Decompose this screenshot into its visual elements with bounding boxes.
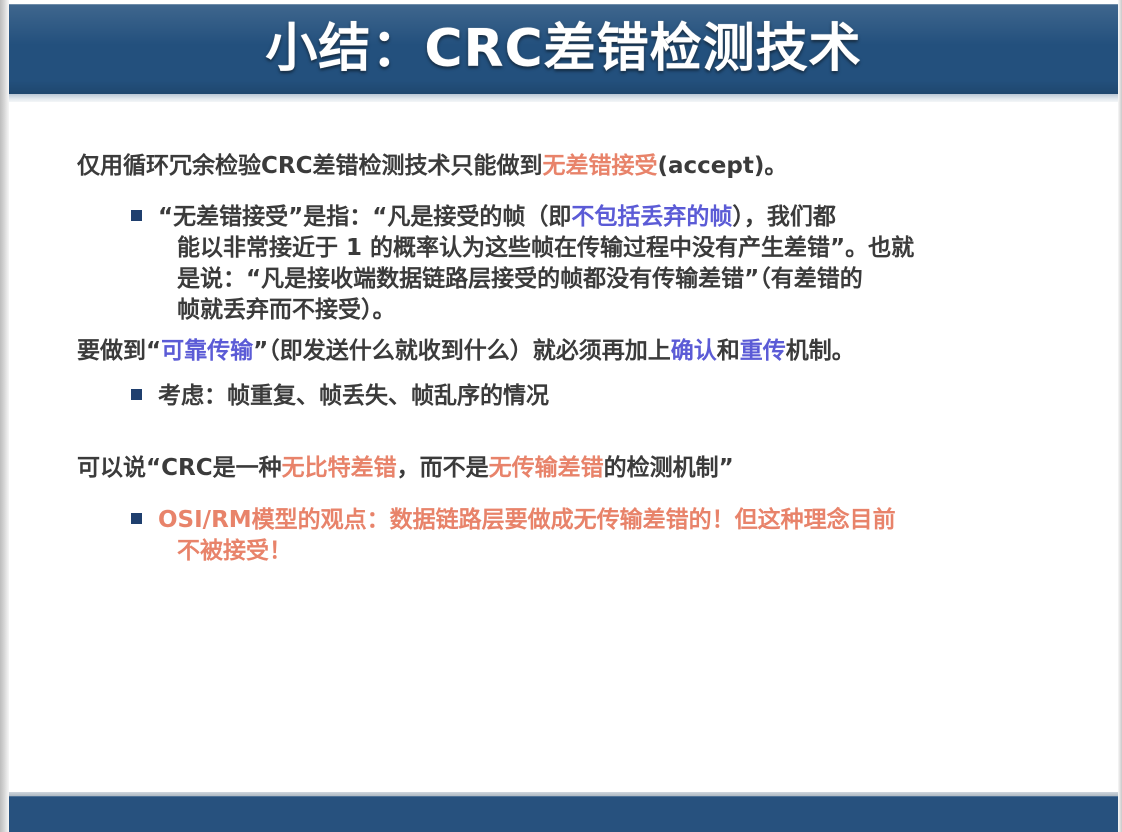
paragraph-reliable-text-2: ”（即发送什么就收到什么）就必须再加上 bbox=[253, 338, 671, 364]
paragraph-crc-mechanism: 可以说“CRC是一种无比特差错，而不是无传输差错的检测机制” bbox=[77, 448, 734, 482]
bullet-osi-rm-view-line2: 不被接受！ bbox=[177, 531, 292, 565]
page-title: 小结：CRC差错检测技术 bbox=[9, 4, 1118, 94]
square-bullet-icon bbox=[131, 389, 142, 400]
bullet-error-free-accept-text-2: ），我们都 bbox=[732, 204, 836, 230]
paragraph-crc-mechanism-highlight-2: 无传输差错 bbox=[489, 455, 604, 481]
square-bullet-icon bbox=[131, 513, 142, 524]
paragraph-crc-accept-highlight: 无差错接受 bbox=[542, 153, 657, 179]
paragraph-reliable-highlight-1: 可靠传输 bbox=[161, 338, 253, 364]
slide-left-border bbox=[0, 0, 9, 832]
bullet-error-free-accept-line3: 是说：“凡是接收端数据链路层接受的帧都没有传输差错”（有差错的 bbox=[177, 259, 863, 293]
paragraph-crc-mechanism-text-3: 的检测机制” bbox=[604, 455, 734, 481]
paragraph-crc-mechanism-highlight-1: 无比特差错 bbox=[282, 455, 397, 481]
bullet-error-free-accept-line2: 能以非常接近于 1 的概率认为这些帧在传输过程中没有产生差错”。也就 bbox=[177, 228, 914, 262]
paragraph-reliable-text-4: 机制。 bbox=[786, 338, 855, 364]
paragraph-reliable-text-1: 要做到“ bbox=[77, 338, 161, 364]
banner-underline bbox=[9, 94, 1118, 102]
slide-right-border bbox=[1118, 0, 1122, 832]
slide-title-banner: 小结：CRC差错检测技术 bbox=[9, 4, 1118, 94]
bullet-error-free-accept-text-1: “无差错接受”是指：“凡是接受的帧（即 bbox=[158, 204, 571, 230]
paragraph-crc-accept-text-2: (accept)。 bbox=[657, 153, 787, 179]
paragraph-crc-mechanism-text-2: ，而不是 bbox=[397, 455, 489, 481]
bullet-error-free-accept: “无差错接受”是指：“凡是接受的帧（即不包括丢弃的帧），我们都 bbox=[131, 197, 836, 231]
slide-canvas: 小结：CRC差错检测技术 仅用循环冗余检验CRC差错检测技术只能做到无差错接受(… bbox=[0, 0, 1122, 832]
paragraph-reliable-text-3: 和 bbox=[717, 338, 740, 364]
bullet-considerations: 考虑：帧重复、帧丢失、帧乱序的情况 bbox=[131, 376, 549, 410]
slide-footer-bar bbox=[9, 796, 1118, 832]
paragraph-reliable-highlight-2: 确认 bbox=[671, 338, 717, 364]
paragraph-crc-accept-text-1: 仅用循环冗余检验CRC差错检测技术只能做到 bbox=[77, 153, 542, 179]
bullet-error-free-accept-highlight: 不包括丢弃的帧 bbox=[571, 204, 732, 230]
paragraph-reliable-transmission: 要做到“可靠传输”（即发送什么就收到什么）就必须再加上确认和重传机制。 bbox=[77, 331, 855, 365]
bullet-considerations-text: 考虑：帧重复、帧丢失、帧乱序的情况 bbox=[158, 383, 549, 409]
slide-body: 仅用循环冗余检验CRC差错检测技术只能做到无差错接受(accept)。 “无差错… bbox=[9, 104, 1118, 792]
bullet-osi-rm-view: OSI/RM模型的观点：数据链路层要做成无传输差错的！但这种理念目前 bbox=[131, 500, 896, 534]
paragraph-crc-mechanism-text-1: 可以说“CRC是一种 bbox=[77, 455, 282, 481]
bullet-osi-rm-view-line1: OSI/RM模型的观点：数据链路层要做成无传输差错的！但这种理念目前 bbox=[158, 507, 896, 533]
paragraph-reliable-highlight-3: 重传 bbox=[740, 338, 786, 364]
bullet-error-free-accept-line4: 帧就丢弃而不接受）。 bbox=[177, 290, 396, 324]
square-bullet-icon bbox=[131, 210, 142, 221]
paragraph-crc-accept: 仅用循环冗余检验CRC差错检测技术只能做到无差错接受(accept)。 bbox=[77, 146, 787, 180]
